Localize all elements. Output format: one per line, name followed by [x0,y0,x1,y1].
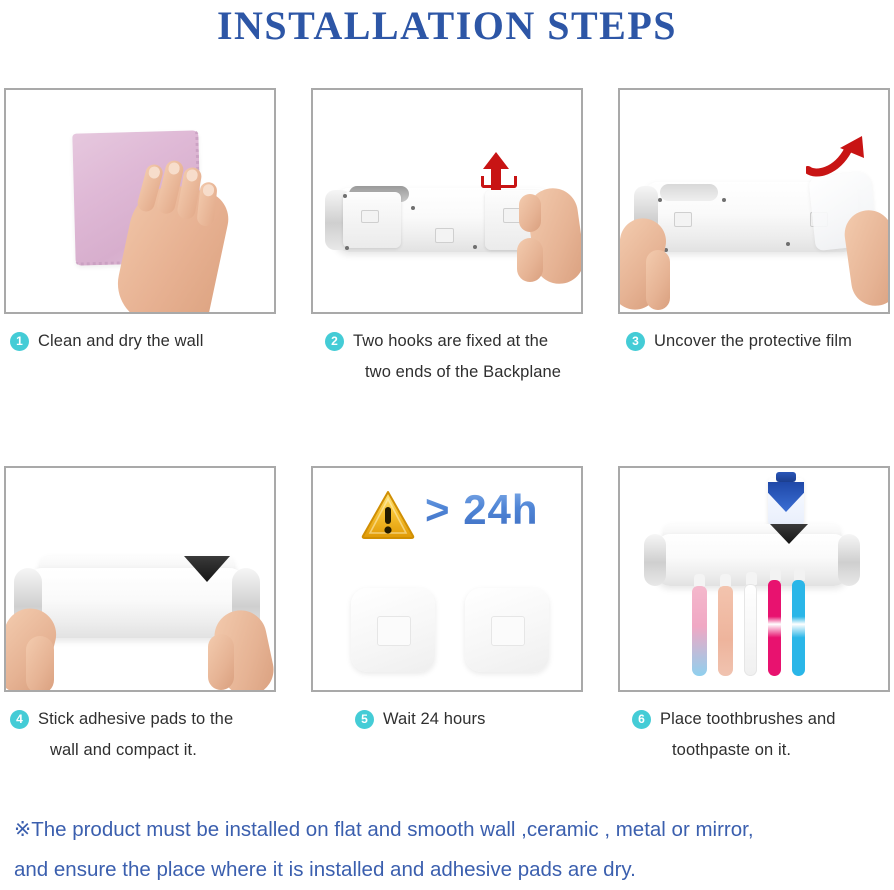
center-slot [435,228,454,243]
toothbrush-5 [792,580,805,676]
step-caption-2: 2 Two hooks are fixed at the two ends of… [311,326,587,388]
note-line2: and ensure the place where it is install… [14,858,636,881]
nail-icon [147,165,161,179]
step-number-badge-4: 4 [10,710,29,729]
hook-slot-left [361,210,379,223]
nail-icon [186,169,199,183]
finger-icon [26,636,54,692]
steps-row-1: 1 Clean and dry the wall [0,88,894,466]
step-image-4 [4,466,276,692]
step-number-badge-2: 2 [325,332,344,351]
step-number-badge-3: 3 [626,332,645,351]
step-image-3 [618,88,890,314]
hand-right-icon [842,207,890,309]
screw-icon [658,198,662,202]
screw-icon [411,206,415,210]
device-body [28,568,244,638]
screw-icon [786,242,790,246]
page-title: INSTALLATION STEPS [0,2,894,49]
finger-icon [646,250,670,310]
step-card-4: 4 Stick adhesive pads to the wall and co… [4,466,280,766]
adhesive-pad-left [351,588,435,672]
holder-right-cap [838,534,860,586]
toothpaste-tube [768,478,804,528]
warning-triangle-icon [361,490,415,540]
nail-icon [202,184,214,197]
step-caption-line2: toothpaste on it. [660,735,894,766]
scene-stick-adhesive [6,468,274,690]
slot-left [674,212,692,227]
step-image-2 [311,88,583,314]
toothbrush-3 [744,584,757,676]
step-image-5: > 24h [311,466,583,692]
toothbrush-4 [768,580,781,676]
installation-note: ※The product must be installed on flat a… [14,810,884,890]
toothpaste-cap [776,472,796,482]
screw-icon [722,198,726,202]
step-card-6: 6 Place toothbrushes and toothpaste on i… [618,466,894,766]
screw-icon [345,246,349,250]
step-caption-line1: Two hooks are fixed at the [353,332,548,350]
step-caption-3: 3 Uncover the protective film [618,326,894,357]
step-card-3: 3 Uncover the protective film [618,88,894,357]
finger-icon [208,634,234,690]
scene-clean-wall [6,90,274,312]
step-number-badge-6: 6 [632,710,651,729]
step-image-6 [618,466,890,692]
adhesive-pad-right [465,588,549,672]
scene-wait-24h: > 24h [313,468,581,690]
scene-uncover-film [620,90,888,312]
vent-icon [660,184,718,201]
scene-place-toothbrushes [620,468,888,690]
toothbrush-2 [718,586,733,676]
note-marker: ※ [14,818,31,841]
thumb-icon [519,194,541,232]
step-caption-line1: Place toothbrushes and [660,710,836,728]
step-caption-line1: Wait 24 hours [383,710,485,728]
step-caption-line2: wall and compact it. [38,735,280,766]
toothpaste-label [768,482,804,512]
screw-icon [473,245,477,249]
step-card-2: 2 Two hooks are fixed at the two ends of… [311,88,587,388]
finger-icon [196,181,218,227]
step-caption-line1: Stick adhesive pads to the [38,710,233,728]
installation-steps-page: INSTALLATION STEPS [0,0,894,883]
step-caption-line1: Uncover the protective film [654,332,852,350]
step-number-badge-1: 1 [10,332,29,351]
toothbrush-1 [692,586,707,676]
curved-arrow-icon [806,132,868,178]
steps-row-2: 4 Stick adhesive pads to the wall and co… [0,466,894,844]
step-caption-6: 6 Place toothbrushes and toothpaste on i… [618,704,894,766]
step-image-1 [4,88,276,314]
step-caption-5: 5 Wait 24 hours [311,704,587,735]
steps-grid: 1 Clean and dry the wall [0,88,894,844]
step-card-1: 1 Clean and dry the wall [4,88,280,357]
finger-icon [517,238,543,282]
step-caption-4: 4 Stick adhesive pads to the wall and co… [4,704,280,766]
step-number-badge-5: 5 [355,710,374,729]
step-caption-line2: two ends of the Backplane [353,357,587,388]
step-card-5: > 24h 5 Wait 24 hours [311,466,587,735]
wait-time-label: > 24h [425,486,539,534]
step-caption-1: 1 Clean and dry the wall [4,326,280,357]
note-line1: The product must be installed on flat an… [31,818,753,841]
nail-icon [167,161,180,175]
screw-icon [343,194,347,198]
holder-left-cap [644,534,666,586]
step-caption-line1: Clean and dry the wall [38,332,203,350]
scene-backplane-hooks [313,90,581,312]
